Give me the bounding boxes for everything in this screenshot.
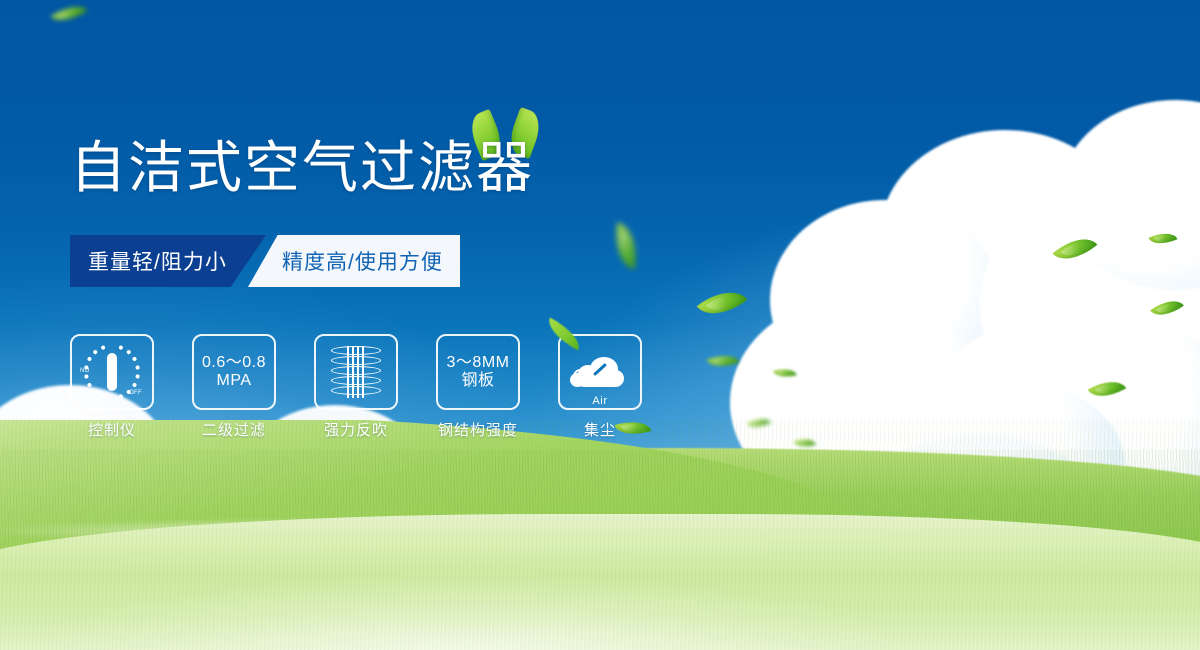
- subtitle-tag-primary: 重量轻/阻力小: [70, 235, 266, 287]
- dial-pointer: [107, 353, 117, 391]
- air-swirl-icon: [573, 369, 588, 384]
- feature-label: 二级过滤: [202, 419, 266, 440]
- air-cloud-icon: Air: [570, 349, 630, 395]
- subtitle-tag-secondary-text: 精度高/使用方便: [248, 246, 443, 276]
- air-label: Air: [570, 395, 630, 407]
- feature-item-dust[interactable]: Air 集尘: [558, 334, 642, 440]
- subtitle-tag-secondary: 精度高/使用方便: [248, 235, 460, 287]
- banner-root: 自洁式空气过滤器 重量轻/阻力小 精度高/使用方便: [0, 0, 1200, 650]
- feature-item-blowback[interactable]: 强力反吹: [314, 334, 398, 440]
- pressure-value-line1: 0.6～0.8: [202, 354, 266, 372]
- dial-label-off: OFF: [129, 390, 142, 396]
- feature-label: 集尘: [584, 419, 616, 440]
- dial-label-no: NO: [80, 368, 90, 374]
- feature-icon-box: 0.6～0.8 MPA: [192, 334, 276, 410]
- control-dial-icon: NO OFF: [84, 344, 140, 400]
- feature-icon-box: 3～8MM 钢板: [436, 334, 520, 410]
- feature-item-pressure[interactable]: 0.6～0.8 MPA 二级过滤: [192, 334, 276, 440]
- filter-stack-icon: [331, 344, 381, 400]
- steel-value-line2: 钢板: [461, 372, 494, 390]
- feature-list: NO OFF 控制仪 0.6～0.8 MPA 二级过滤: [70, 334, 642, 440]
- steel-value-line1: 3～8MM: [447, 354, 510, 372]
- pressure-value-line2: MPA: [217, 372, 252, 390]
- feature-icon-box: [314, 334, 398, 410]
- grass-texture-front: [0, 420, 1200, 650]
- subtitle-tag-primary-text: 重量轻/阻力小: [70, 246, 227, 276]
- feature-icon-box: Air: [558, 334, 642, 410]
- feature-item-steel[interactable]: 3～8MM 钢板 钢结构强度: [436, 334, 520, 440]
- page-title: 自洁式空气过滤器: [70, 140, 534, 196]
- feature-label: 控制仪: [88, 419, 136, 440]
- subtitle-bar: 重量轻/阻力小 精度高/使用方便: [70, 235, 460, 287]
- feature-label: 钢结构强度: [438, 419, 518, 440]
- feature-item-control[interactable]: NO OFF 控制仪: [70, 334, 154, 440]
- feature-label: 强力反吹: [324, 419, 388, 440]
- feature-icon-box: NO OFF: [70, 334, 154, 410]
- grass-meadow: [0, 420, 1200, 650]
